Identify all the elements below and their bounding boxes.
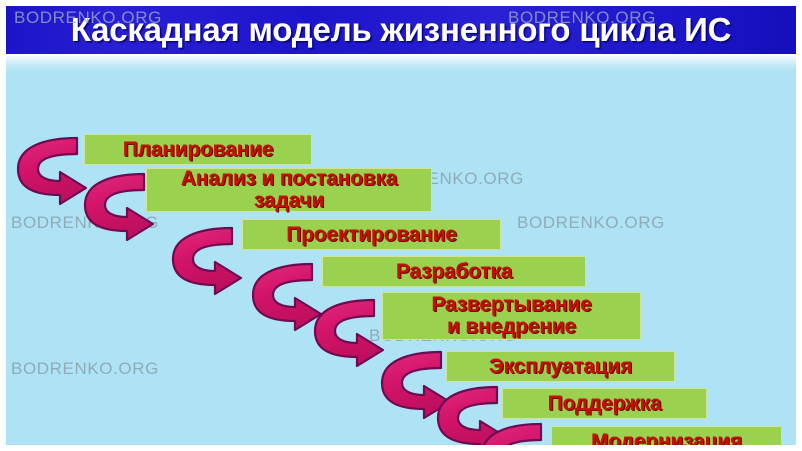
watermark: BODRENKO.ORG [11,359,159,379]
page-title: Каскадная модель жизненного цикла ИС [6,11,796,49]
stage-box: Поддержка [502,388,707,419]
stage-box: Разработка [322,256,586,287]
watermark: BODRENKO.ORG [517,213,665,233]
stage-box: Планирование [84,134,312,165]
diagram-canvas: BODRENKO.ORGBODRENKO.ORGBODRENKO.ORGBODR… [6,56,796,445]
title-banner: Каскадная модель жизненного цикла ИС [6,6,796,54]
arrow-to-development-icon [169,222,247,298]
stage-box: Анализ и постановка задачи [146,168,432,212]
stage-box: Модернизация [551,426,782,445]
arrow-to-utilization-icon [478,418,556,445]
slide-root: Каскадная модель жизненного цикла ИС BOD… [0,0,802,451]
stage-box: Эксплуатация [446,351,675,382]
stage-box: Проектирование [242,219,501,250]
stage-box: Развертывание и внедрение [382,292,641,340]
